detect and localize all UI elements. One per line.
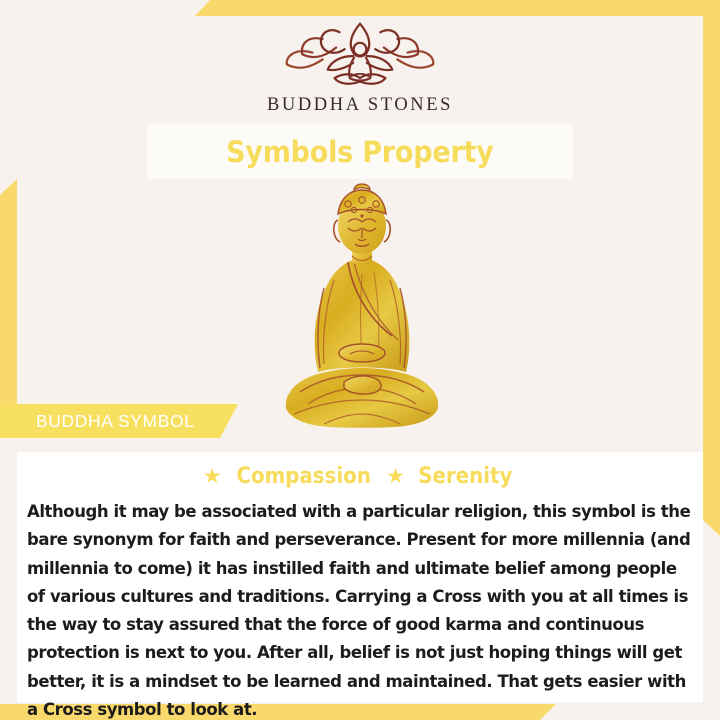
lotus-meditation-icon <box>275 22 445 88</box>
title-band: Symbols Property <box>148 125 572 178</box>
ribbon-label: BUDDHA SYMBOL <box>0 411 195 432</box>
star-icon-1: ★ <box>203 464 222 488</box>
decorative-left-strip <box>0 179 17 420</box>
attribute-serenity: Serenity <box>418 464 512 489</box>
buddha-symbol-ribbon: BUDDHA SYMBOL <box>0 404 238 438</box>
attribute-compassion: Compassion <box>237 464 371 489</box>
star-icon-2: ★ <box>386 464 405 488</box>
brand-name: BUDDHA STONES <box>0 95 720 116</box>
brand-header: BUDDHA STONES <box>0 22 720 116</box>
golden-seated-buddha-statue <box>274 176 450 438</box>
decorative-top-bar <box>195 0 720 16</box>
attributes-subheading: ★ Compassion ★ Serenity <box>0 464 720 489</box>
promo-banner-page: BUDDHA STONES Symbols Property <box>0 0 720 720</box>
description-paragraph: Although it may be associated with a par… <box>27 498 693 720</box>
page-title: Symbols Property <box>226 135 494 169</box>
